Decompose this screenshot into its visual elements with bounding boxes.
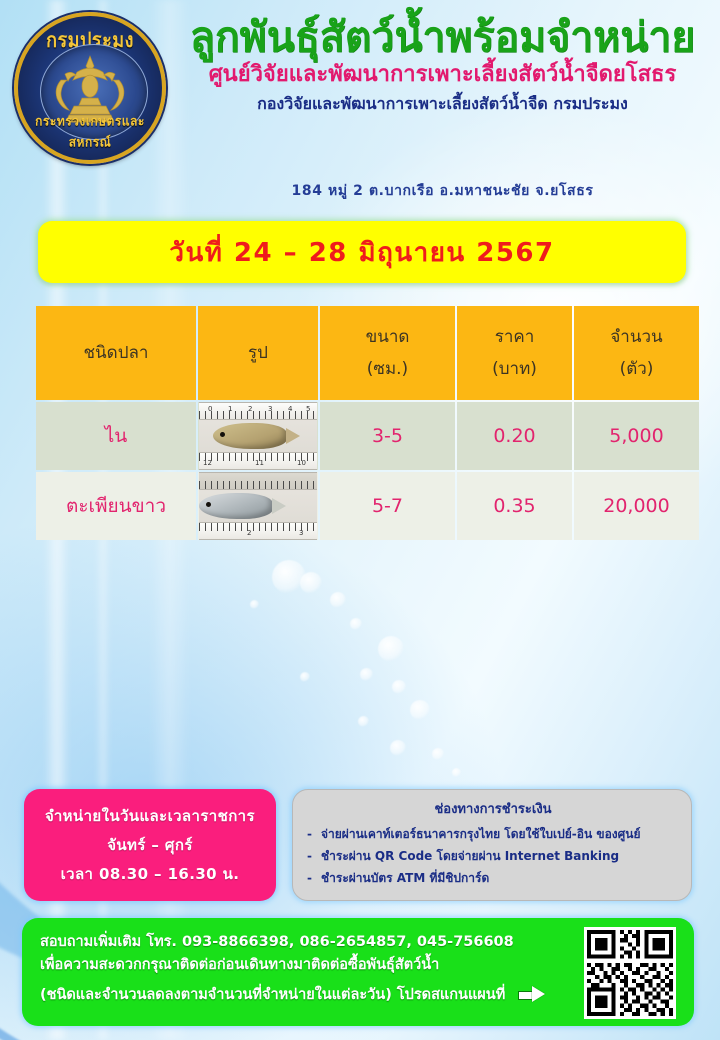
center-name-subtitle: ศูนย์วิจัยและพัฒนาการเพาะเลี้ยงสัตว์น้ำจ… <box>170 62 715 87</box>
list-item: -ชำระผ่าน QR Code โดยจ่ายผ่าน Internet B… <box>307 846 679 868</box>
background-bokeh <box>300 572 322 594</box>
column-header-size: ขนาด (ซม.) <box>320 306 455 400</box>
cell-size: 3-5 <box>320 402 455 470</box>
background-bokeh <box>378 636 404 662</box>
column-header-species-line1: ชนิดปลา <box>84 343 149 363</box>
hours-line-1: จำหน่ายในวันและเวลาราชการ <box>45 804 255 828</box>
cell-species-photo: 0 1 2 3 4 5 12 <box>198 402 318 470</box>
column-header-photo: รูป <box>198 306 318 400</box>
contact-phone-line: สอบถามเพิ่มเติม โทร. 093-8866398, 086-26… <box>40 931 678 954</box>
payment-option-text: จ่ายผ่านเคาท์เตอร์ธนาคารกรุงไทย โดยใช้ใบ… <box>321 827 641 841</box>
title-block: ลูกพันธุ์สัตว์น้ำพร้อมจำหน่าย ศูนย์วิจัย… <box>170 16 715 114</box>
cell-species-photo: 2 3 <box>198 472 318 540</box>
background-bokeh <box>452 768 461 777</box>
background-bokeh <box>358 716 369 727</box>
background-bokeh <box>250 600 259 609</box>
poster-header: กรมประมง กระทรวงเกษตรและสหกรณ์ <box>0 0 720 215</box>
list-item: -ชำระผ่านบัตร ATM ที่มีชิปการ์ด <box>307 868 679 890</box>
column-header-quantity: จำนวน (ตัว) <box>574 306 699 400</box>
ruler-top <box>199 472 317 490</box>
background-bokeh <box>272 560 306 594</box>
background-bokeh <box>300 672 310 682</box>
date-banner: วันที่ 24 – 28 มิถุนายน 2567 <box>38 221 686 283</box>
contact-note-line: (ชนิดและจำนวนลดลงตามจำนวนที่จำหน่ายในแต่… <box>40 984 678 1007</box>
background-bokeh <box>350 618 362 630</box>
address-line: 184 หมู่ 2 ต.บากเรือ อ.มหาชนะชัย จ.ยโสธร <box>170 180 715 202</box>
right-arrow-icon <box>518 987 546 1001</box>
cell-quantity: 20,000 <box>574 472 699 540</box>
background-bokeh <box>392 680 406 694</box>
column-header-size-line2: (ซม.) <box>320 353 455 385</box>
contact-advice-line: เพื่อความสะดวกกรุณาติดต่อก่อนเดินทางมาติ… <box>40 954 678 977</box>
background-bokeh <box>360 668 373 681</box>
contact-box: สอบถามเพิ่มเติม โทร. 093-8866398, 086-26… <box>22 918 694 1026</box>
bullet-dash: - <box>307 868 321 890</box>
column-header-size-line1: ขนาด <box>320 321 455 353</box>
table-row: ตะเพียนขาว 2 3 <box>36 472 699 540</box>
qr-code-icon <box>587 930 673 1016</box>
fish-photo-image: 0 1 2 3 4 5 12 <box>199 402 317 470</box>
fish-body-shape <box>213 423 287 449</box>
contact-note-text: (ชนิดและจำนวนลดลงตามจำนวนที่จำหน่ายในแต่… <box>40 987 505 1003</box>
business-hours-box: จำหน่ายในวันและเวลาราชการ จันทร์ – ศุกร์… <box>24 789 276 901</box>
bullet-dash: - <box>307 846 321 868</box>
background-bokeh <box>410 700 430 720</box>
list-item: -จ่ายผ่านเคาท์เตอร์ธนาคารกรุงไทย โดยใช้ใ… <box>307 824 679 846</box>
bullet-dash: - <box>307 824 321 846</box>
cell-quantity: 5,000 <box>574 402 699 470</box>
fish-body-shape <box>199 493 273 519</box>
background-bokeh <box>432 748 444 760</box>
department-of-fisheries-emblem-icon: กรมประมง กระทรวงเกษตรและสหกรณ์ <box>14 12 166 164</box>
payment-options-list: -จ่ายผ่านเคาท์เตอร์ธนาคารกรุงไทย โดยใช้ใ… <box>307 824 679 889</box>
cell-price: 0.35 <box>457 472 572 540</box>
background-bokeh <box>390 740 406 756</box>
cell-species-name: ตะเพียนขาว <box>36 472 196 540</box>
cell-size: 5-7 <box>320 472 455 540</box>
ruler-bottom: 2 3 <box>199 522 317 540</box>
date-range-text: วันที่ 24 – 28 มิถุนายน 2567 <box>169 232 554 273</box>
fish-stock-table: ชนิดปลา รูป ขนาด (ซม.) ราคา (บาท) จำนวน … <box>34 304 701 542</box>
cell-price: 0.20 <box>457 402 572 470</box>
ruler-top: 0 1 2 3 4 5 <box>199 402 317 420</box>
ruler-bottom: 12 11 10 <box>199 452 317 470</box>
cell-species-name: ไน <box>36 402 196 470</box>
page-title: ลูกพันธุ์สัตว์น้ำพร้อมจำหน่าย <box>170 16 715 59</box>
column-header-species: ชนิดปลา <box>36 306 196 400</box>
payment-option-text: ชำระผ่านบัตร ATM ที่มีชิปการ์ด <box>321 871 489 885</box>
column-header-price-line1: ราคา <box>457 321 572 353</box>
table-row: ไน 0 1 2 3 4 5 <box>36 402 699 470</box>
fish-photo-image: 2 3 <box>199 472 317 540</box>
poster-canvas: กรมประมง กระทรวงเกษตรและสหกรณ์ <box>0 0 720 1040</box>
column-header-price: ราคา (บาท) <box>457 306 572 400</box>
column-header-price-line2: (บาท) <box>457 353 572 385</box>
payment-box-title: ช่องทางการชำระเงิน <box>307 798 679 819</box>
division-subtitle: กองวิจัยและพัฒนาการเพาะเลี้ยงสัตว์น้ำจืด… <box>170 94 715 113</box>
column-header-quantity-line1: จำนวน <box>574 321 699 353</box>
emblem-bottom-text: กระทรวงเกษตรและสหกรณ์ <box>18 111 162 153</box>
column-header-quantity-line2: (ตัว) <box>574 353 699 385</box>
column-header-photo-line1: รูป <box>248 343 268 363</box>
payment-channels-box: ช่องทางการชำระเงิน -จ่ายผ่านเคาท์เตอร์ธน… <box>292 789 692 901</box>
payment-option-text: ชำระผ่าน QR Code โดยจ่ายผ่าน Internet Ba… <box>321 849 619 863</box>
table-header-row: ชนิดปลา รูป ขนาด (ซม.) ราคา (บาท) จำนวน … <box>36 306 699 400</box>
hours-line-2: จันทร์ – ศุกร์ <box>107 833 193 857</box>
hours-line-3: เวลา 08.30 – 16.30 น. <box>61 862 240 886</box>
background-bokeh <box>330 592 346 608</box>
qr-code-map[interactable] <box>584 927 676 1019</box>
